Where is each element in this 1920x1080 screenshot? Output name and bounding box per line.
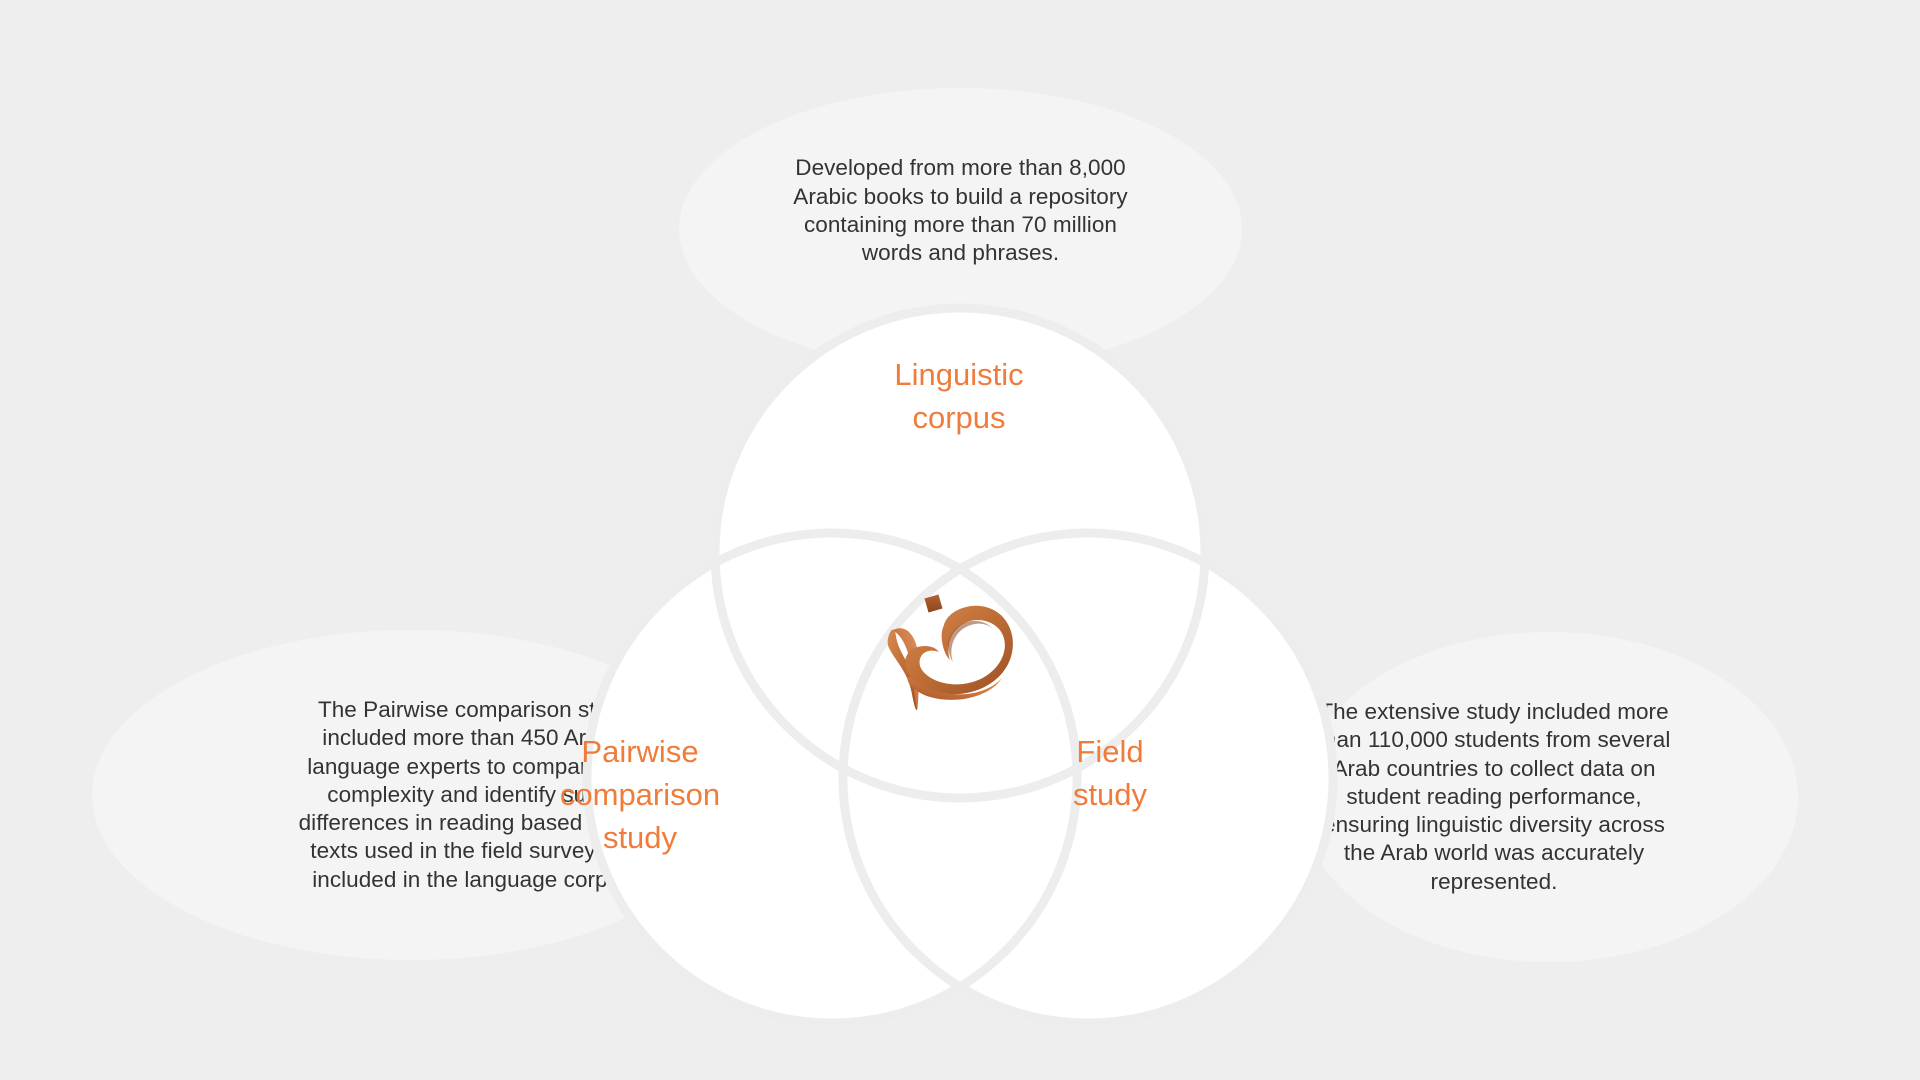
calligraphy-stroke-loop (905, 606, 1013, 695)
callout-ellipse-field-study: The extensive study included more than 1… (1300, 632, 1798, 962)
venn-label-pairwise-comparison-study: Pairwise comparison study (508, 730, 772, 859)
infographic-canvas: Developed from more than 8,000 Arabic bo… (0, 0, 1920, 1080)
arabic-calligraphy-logo-icon (884, 587, 1036, 712)
callout-text-field-study: The extensive study included more than 1… (1304, 698, 1684, 896)
calligraphy-dot (925, 595, 943, 613)
venn-label-field-study: Field study (1010, 730, 1210, 816)
callout-text-linguistic-corpus: Developed from more than 8,000 Arabic bo… (775, 154, 1147, 267)
venn-label-linguistic-corpus: Linguistic corpus (827, 353, 1091, 439)
